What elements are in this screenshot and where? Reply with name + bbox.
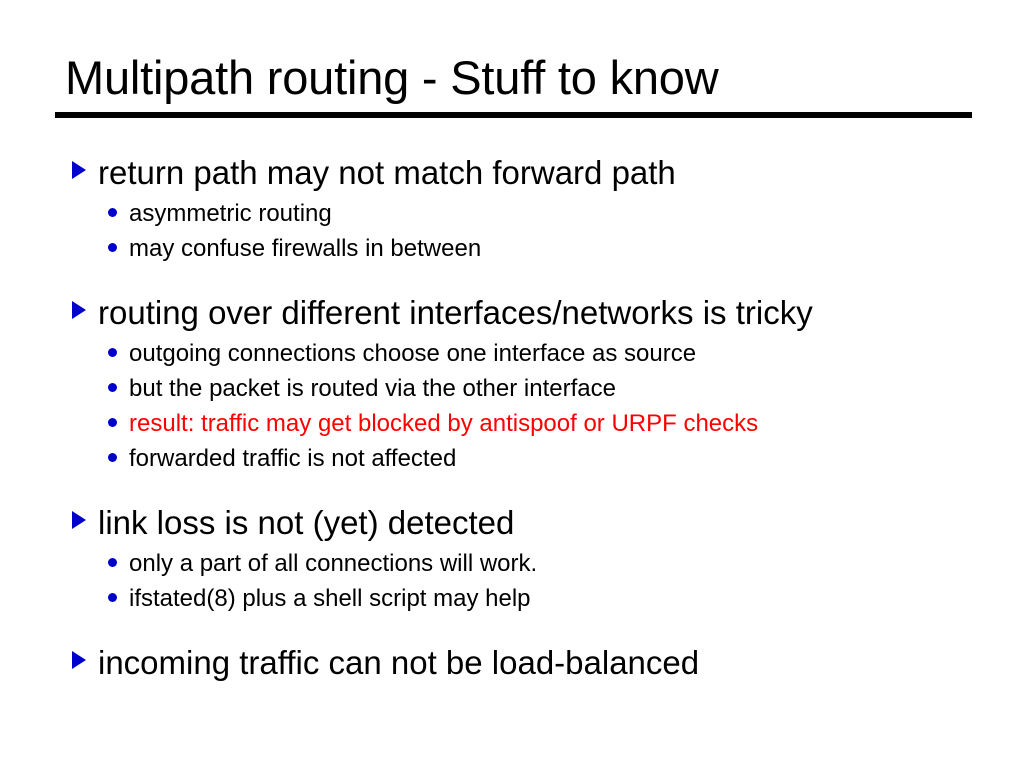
bullet-level2: asymmetric routing <box>108 196 972 231</box>
bullet-level2: outgoing connections choose one interfac… <box>108 336 972 371</box>
page-title: Multipath routing - Stuff to know <box>55 50 972 106</box>
bullet-level2-label: forwarded traffic is not affected <box>129 442 456 475</box>
bullet-group: link loss is not (yet) detected only a p… <box>72 502 972 616</box>
triangle-right-icon <box>72 511 98 529</box>
triangle-right-icon <box>72 651 98 669</box>
bullet-level2-label: result: traffic may get blocked by antis… <box>129 407 758 440</box>
disc-icon <box>108 558 129 567</box>
bullet-group: incoming traffic can not be load-balance… <box>72 642 972 684</box>
slide: Multipath routing - Stuff to know return… <box>0 0 1024 768</box>
bullet-level2: ifstated(8) plus a shell script may help <box>108 581 972 616</box>
bullet-level2-label: asymmetric routing <box>129 197 332 230</box>
bullet-level2: forwarded traffic is not affected <box>108 441 972 476</box>
bullet-level1-label: return path may not match forward path <box>98 152 676 194</box>
bullet-level1-label: routing over different interfaces/networ… <box>98 292 813 334</box>
disc-icon <box>108 208 129 217</box>
disc-icon <box>108 593 129 602</box>
bullet-level2: only a part of all connections will work… <box>108 546 972 581</box>
bullet-level1: routing over different interfaces/networ… <box>72 292 972 334</box>
bullet-group: routing over different interfaces/networ… <box>72 292 972 476</box>
bullet-level2: may confuse firewalls in between <box>108 231 972 266</box>
bullet-level2-label: outgoing connections choose one interfac… <box>129 337 696 370</box>
bullet-level2-highlighted: result: traffic may get blocked by antis… <box>108 406 972 441</box>
bullet-level1: link loss is not (yet) detected <box>72 502 972 544</box>
triangle-right-icon <box>72 301 98 319</box>
bullet-level1: return path may not match forward path <box>72 152 972 194</box>
title-underline-rule <box>55 112 972 118</box>
title-block: Multipath routing - Stuff to know <box>55 50 972 118</box>
bullet-level2-label: but the packet is routed via the other i… <box>129 372 616 405</box>
disc-icon <box>108 453 129 462</box>
bullet-level2-label: only a part of all connections will work… <box>129 547 537 580</box>
disc-icon <box>108 348 129 357</box>
disc-icon <box>108 418 129 427</box>
bullet-level2-label: may confuse firewalls in between <box>129 232 481 265</box>
disc-icon <box>108 243 129 252</box>
triangle-right-icon <box>72 161 98 179</box>
bullet-level1-label: link loss is not (yet) detected <box>98 502 514 544</box>
bullet-list: return path may not match forward path a… <box>72 152 972 686</box>
bullet-level1: incoming traffic can not be load-balance… <box>72 642 972 684</box>
bullet-level1-label: incoming traffic can not be load-balance… <box>98 642 699 684</box>
bullet-level2-label: ifstated(8) plus a shell script may help <box>129 582 531 615</box>
bullet-group: return path may not match forward path a… <box>72 152 972 266</box>
bullet-level2: but the packet is routed via the other i… <box>108 371 972 406</box>
disc-icon <box>108 383 129 392</box>
